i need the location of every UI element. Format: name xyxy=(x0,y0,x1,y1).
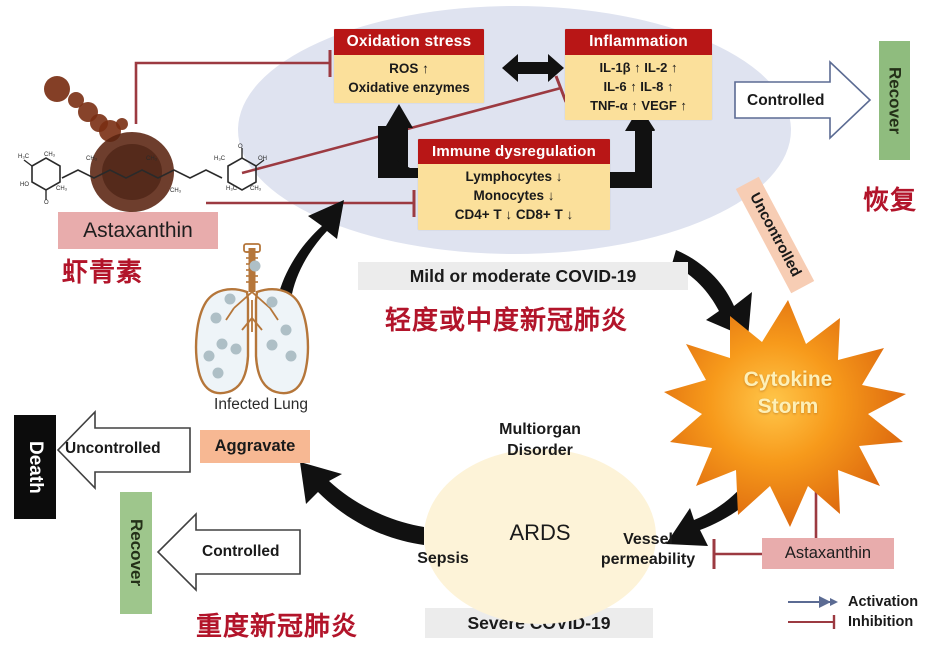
multiorgan-line-1: Multiorgan xyxy=(470,419,610,440)
uncontrolled-middle-label: Uncontrolled xyxy=(736,177,814,293)
svg-text:H₃C: H₃C xyxy=(226,186,238,192)
inhibition-vessel-permeability xyxy=(714,539,762,569)
svg-text:CH₃: CH₃ xyxy=(146,156,158,162)
legend-activation-label: Activation xyxy=(848,594,918,610)
immune-dysregulation-box: Immune dysregulation Lymphocytes ↓ Monoc… xyxy=(418,139,610,230)
inflammation-line-3: TNF-α ↑ VEGF ↑ xyxy=(565,96,712,115)
sepsis-label: Sepsis xyxy=(400,550,486,568)
mild-covid-label-chinese: 轻度或中度新冠肺炎 xyxy=(385,300,628,337)
astaxanthin-label-left: Astaxanthin xyxy=(58,212,218,249)
svg-text:O: O xyxy=(44,200,49,206)
multiorgan-line-2: Disorder xyxy=(470,440,610,461)
immune-line-1: Lymphocytes ↓ xyxy=(418,167,610,186)
legend-row-activation: Activation xyxy=(786,592,946,612)
oxidation-stress-body: ROS ↑ Oxidative enzymes xyxy=(334,55,484,103)
uncontrolled-bottom-label: Uncontrolled xyxy=(65,440,161,458)
activation-arrow-icon xyxy=(786,595,842,609)
svg-text:CH₃: CH₃ xyxy=(44,152,56,158)
controlled-top-label: Controlled xyxy=(747,92,825,110)
cytokine-storm-label: Cytokine Storm xyxy=(712,366,864,420)
oxidation-line-2: Oxidative enzymes xyxy=(334,78,484,97)
astaxanthin-label-chinese: 虾青素 xyxy=(62,252,143,289)
immune-dysregulation-body: Lymphocytes ↓ Monocytes ↓ CD4+ T ↓ CD8+ … xyxy=(418,164,610,230)
svg-text:CH₃: CH₃ xyxy=(86,156,98,162)
inhibition-cytokine-storm xyxy=(800,452,832,538)
immune-line-2: Monocytes ↓ xyxy=(418,186,610,205)
inflammation-title: Inflammation xyxy=(565,29,712,55)
immune-line-3: CD4+ T ↓ CD8+ T ↓ xyxy=(418,205,610,224)
cytokine-storm-line-1: Cytokine xyxy=(712,366,864,393)
vessel-line-2: permeability xyxy=(596,550,700,570)
mild-covid-label: Mild or moderate COVID-19 xyxy=(358,262,688,290)
inhibition-bar-icon xyxy=(786,614,842,630)
legend-inhibition-label: Inhibition xyxy=(848,614,913,630)
oxidation-line-1: ROS ↑ xyxy=(334,59,484,78)
inflammation-box: Inflammation IL-1β ↑ IL-2 ↑ IL-6 ↑ IL-8 … xyxy=(565,29,712,120)
svg-text:CH₃: CH₃ xyxy=(170,188,182,194)
legend: Activation Inhibition xyxy=(786,592,946,632)
infected-lung-label: Infected Lung xyxy=(186,396,336,414)
multiorgan-disorder-label: Multiorgan Disorder xyxy=(470,419,610,461)
inflammation-body: IL-1β ↑ IL-2 ↑ IL-6 ↑ IL-8 ↑ TNF-α ↑ VEG… xyxy=(565,55,712,120)
oxidation-stress-box: Oxidation stress ROS ↑ Oxidative enzymes xyxy=(334,29,484,103)
infected-lung-illustration xyxy=(196,244,308,393)
death-box: Death xyxy=(14,415,56,519)
ards-label: ARDS xyxy=(480,520,600,546)
recover-bottom-box: Recover xyxy=(120,492,152,614)
aggravate-box: Aggravate xyxy=(200,430,310,463)
diagram-canvas: H₃CCH₃ HOCH₃ OCH₃ CH₃CH₃ H₃CO OHH₃C CH₃ … xyxy=(0,0,950,645)
legend-row-inhibition: Inhibition xyxy=(786,612,946,632)
svg-text:CH₃: CH₃ xyxy=(56,186,68,192)
recover-top-box: Recover xyxy=(879,41,910,160)
astaxanthin-label-bottom: Astaxanthin xyxy=(762,538,894,569)
inflammation-line-2: IL-6 ↑ IL-8 ↑ xyxy=(565,77,712,96)
svg-text:H₃C: H₃C xyxy=(18,154,30,160)
inflammation-line-1: IL-1β ↑ IL-2 ↑ xyxy=(565,58,712,77)
severe-covid-label-chinese: 重度新冠肺炎 xyxy=(196,606,358,643)
vessel-permeability-label: Vessel permeability xyxy=(596,530,700,570)
svg-text:H₃C: H₃C xyxy=(214,156,226,162)
cytokine-storm-line-2: Storm xyxy=(712,393,864,420)
astaxanthin-molecule-illustration: H₃CCH₃ HOCH₃ OCH₃ CH₃CH₃ H₃CO OHH₃C CH₃ xyxy=(18,76,267,212)
oxidation-stress-title: Oxidation stress xyxy=(334,29,484,55)
arrow-ards-to-aggravate xyxy=(300,462,424,545)
immune-dysregulation-title: Immune dysregulation xyxy=(418,139,610,164)
recover-top-label-chinese: 恢复 xyxy=(863,180,917,217)
controlled-bottom-label: Controlled xyxy=(202,543,280,561)
svg-text:HO: HO xyxy=(20,182,29,188)
vessel-line-1: Vessel xyxy=(596,530,700,550)
svg-text:CH₃: CH₃ xyxy=(250,186,262,192)
